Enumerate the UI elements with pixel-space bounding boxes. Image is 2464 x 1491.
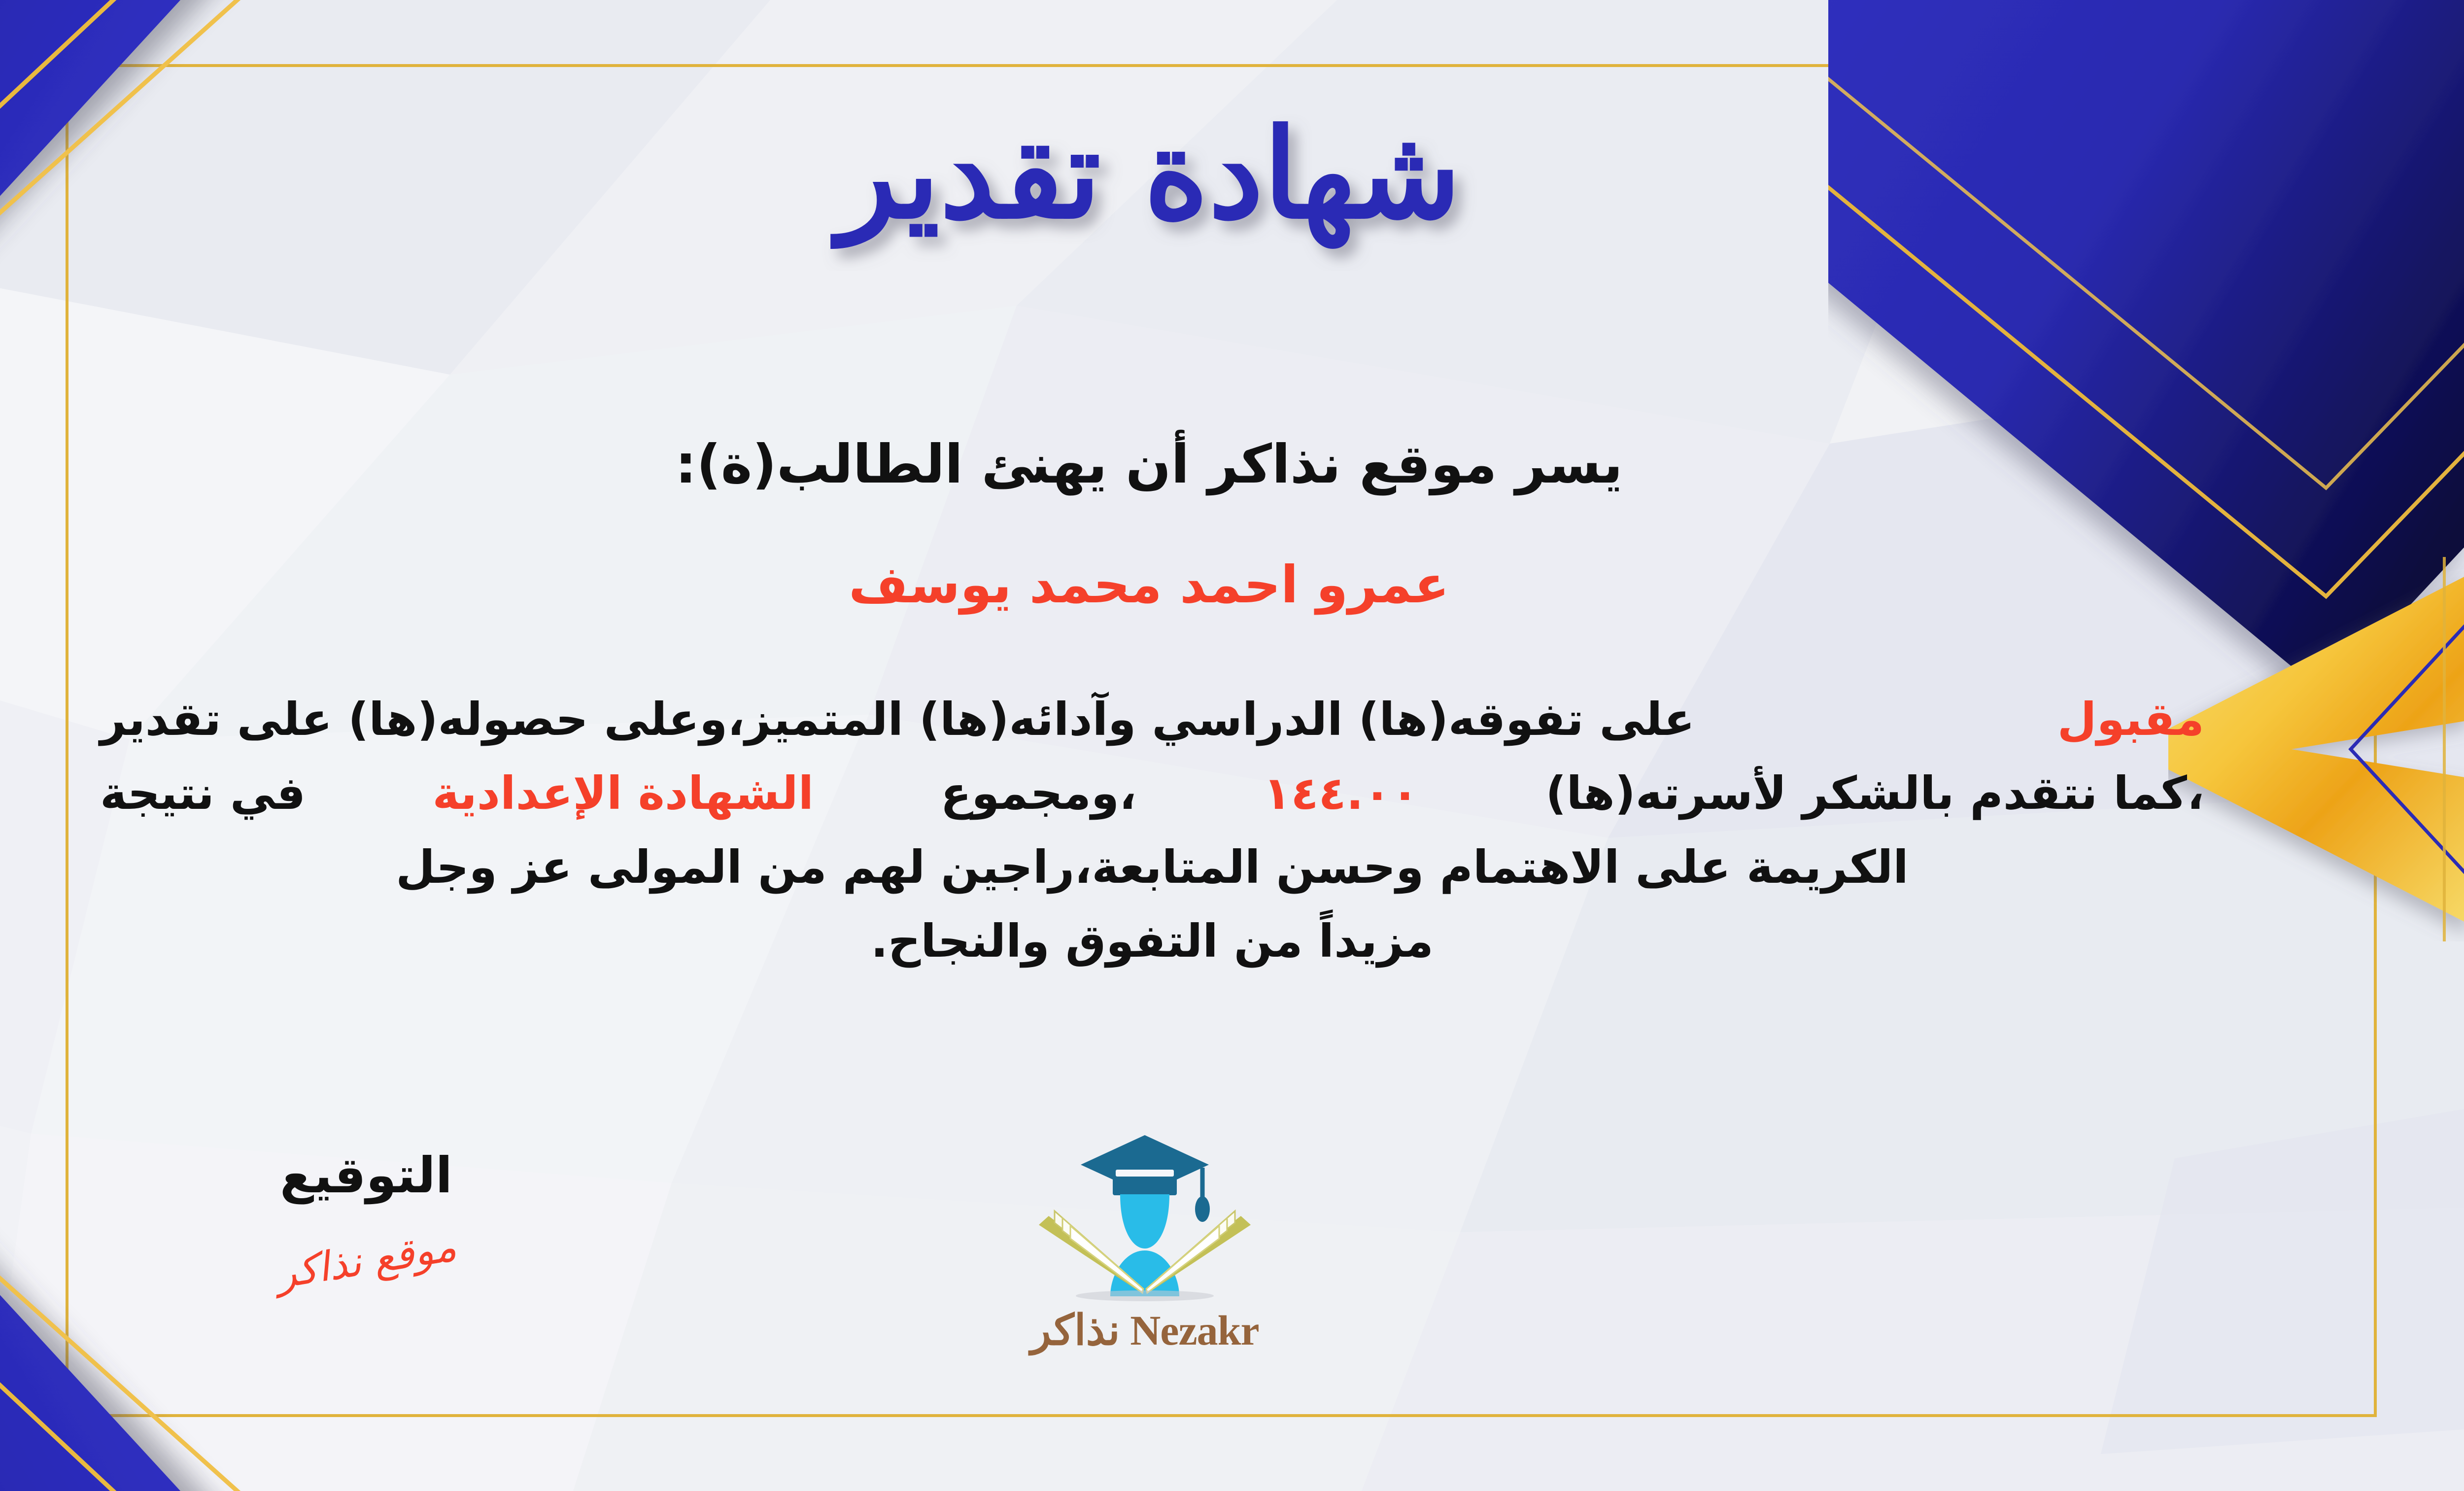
grade-value: مقبول <box>2057 683 2204 757</box>
body-line-2-mid: ،ومجموع <box>940 757 1136 831</box>
student-name: عمرو احمد محمد يوسف <box>0 555 2464 615</box>
body-line-2-head: في نتيجة <box>100 757 306 831</box>
graduate-book-logo-icon <box>1039 1126 1251 1304</box>
body-line-2: ،كما نتقدم بالشكر لأسرته(ها) ١٤٤.٠٠ ،ومج… <box>100 757 2204 831</box>
body-line-3: الكريمة على الاهتمام وحسن المتابعة،راجين… <box>100 831 2204 904</box>
body-line-4: مزيداً من التفوق والنجاح. <box>100 904 2204 978</box>
signature-mark: موقع نذاكر <box>273 1223 459 1298</box>
signature-block: التوقيع موقع نذاكر <box>218 1148 514 1284</box>
page-title: شهادة تقدير <box>0 74 2464 281</box>
brand-logo: Nezakr نذاكر <box>948 1126 1342 1355</box>
body-line-1-text: على تفوقه(ها) الدراسي وآدائه(ها) المتميز… <box>100 683 1695 757</box>
certificate-body: مقبول على تفوقه(ها) الدراسي وآدائه(ها) ا… <box>100 683 2204 978</box>
total-score-value: ١٤٤.٠٠ <box>1263 757 1419 831</box>
greeting-line: يسر موقع نذاكر أن يهنئ الطالب(ة): <box>0 434 2464 495</box>
logo-wordmark: Nezakr نذاكر <box>948 1306 1342 1355</box>
title-calligraphy-text: شهادة تقدير <box>830 101 1461 249</box>
body-line-1: مقبول على تفوقه(ها) الدراسي وآدائه(ها) ا… <box>100 683 2204 757</box>
certificate-document: شهادة تقدير يسر موقع نذاكر أن يهنئ الطال… <box>0 0 2464 1491</box>
body-line-2-tail: ،كما نتقدم بالشكر لأسرته(ها) <box>1545 757 2204 831</box>
signature-label: التوقيع <box>218 1148 514 1203</box>
certificate-name-value: الشهادة الإعدادية <box>432 757 814 831</box>
